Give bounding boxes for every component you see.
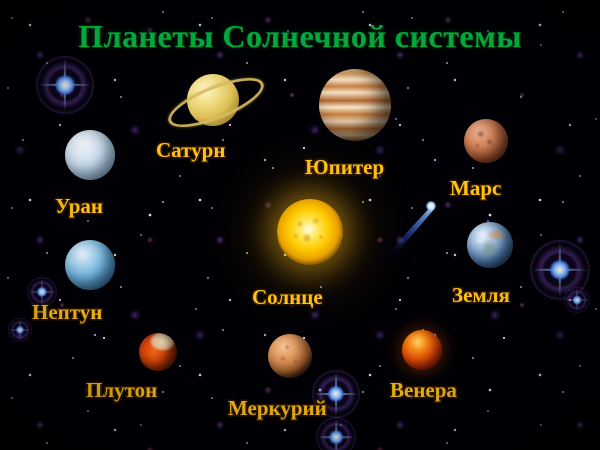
glow-star	[564, 287, 590, 313]
neptune-planet	[65, 240, 115, 290]
glow-star	[316, 417, 356, 450]
uranus-planet	[65, 130, 115, 180]
star-spike-horizontal	[565, 299, 589, 300]
star-spike-vertical	[576, 288, 577, 312]
glow-star	[530, 240, 590, 300]
planet-label-sun: Солнце	[252, 285, 323, 310]
planet-label-uranus: Уран	[55, 194, 103, 219]
jupiter-planet	[319, 69, 391, 141]
star-halo	[316, 417, 356, 450]
star-spike-horizontal	[532, 269, 587, 271]
star-halo	[36, 56, 94, 114]
star-core	[16, 326, 24, 334]
star-spike-vertical	[559, 242, 561, 297]
glow-star	[8, 318, 32, 342]
pluto-planet	[139, 333, 177, 371]
star-spike-vertical	[64, 58, 66, 111]
page-title: Планеты Солнечной системы	[0, 18, 600, 55]
planet-label-neptune: Нептун	[32, 300, 102, 325]
star-spike-horizontal	[9, 330, 31, 331]
star-spike-horizontal	[318, 436, 355, 438]
planet-label-jupiter: Юпитер	[305, 155, 384, 180]
mercury-planet	[268, 334, 312, 378]
star-core	[550, 260, 570, 280]
star-halo	[8, 318, 32, 342]
star-halo	[530, 240, 590, 300]
planet-label-mercury: Меркурий	[228, 396, 327, 421]
star-core	[329, 430, 343, 444]
star-spike-horizontal	[28, 291, 56, 292]
comet-head	[426, 201, 436, 211]
star-core	[55, 75, 75, 95]
solar-system-slide: СатурнЮпитерУранМарсСолнцеНептунЗемляПлу…	[0, 0, 600, 450]
star-halo	[564, 287, 590, 313]
star-core	[573, 296, 582, 305]
venus-planet	[402, 330, 442, 370]
earth-planet	[467, 222, 513, 268]
glow-star	[36, 56, 94, 114]
star-core	[328, 386, 344, 402]
sun-surface-mottling	[285, 207, 335, 257]
planet-label-saturn: Сатурн	[156, 138, 225, 163]
star-spike-vertical	[335, 419, 337, 450]
sun-star	[277, 199, 343, 265]
comet-icon	[388, 203, 434, 261]
planet-label-mars: Марс	[450, 176, 501, 201]
star-spike-horizontal	[314, 393, 358, 395]
star-core	[37, 287, 47, 297]
star-spike-vertical	[335, 372, 337, 416]
planet-label-earth: Земля	[452, 283, 510, 308]
comet-tail	[388, 203, 434, 261]
mars-planet	[464, 119, 508, 163]
planet-label-pluto: Плутон	[86, 378, 157, 403]
star-spike-horizontal	[38, 84, 91, 86]
planet-label-venus: Венера	[390, 378, 457, 403]
star-spike-vertical	[20, 319, 21, 341]
